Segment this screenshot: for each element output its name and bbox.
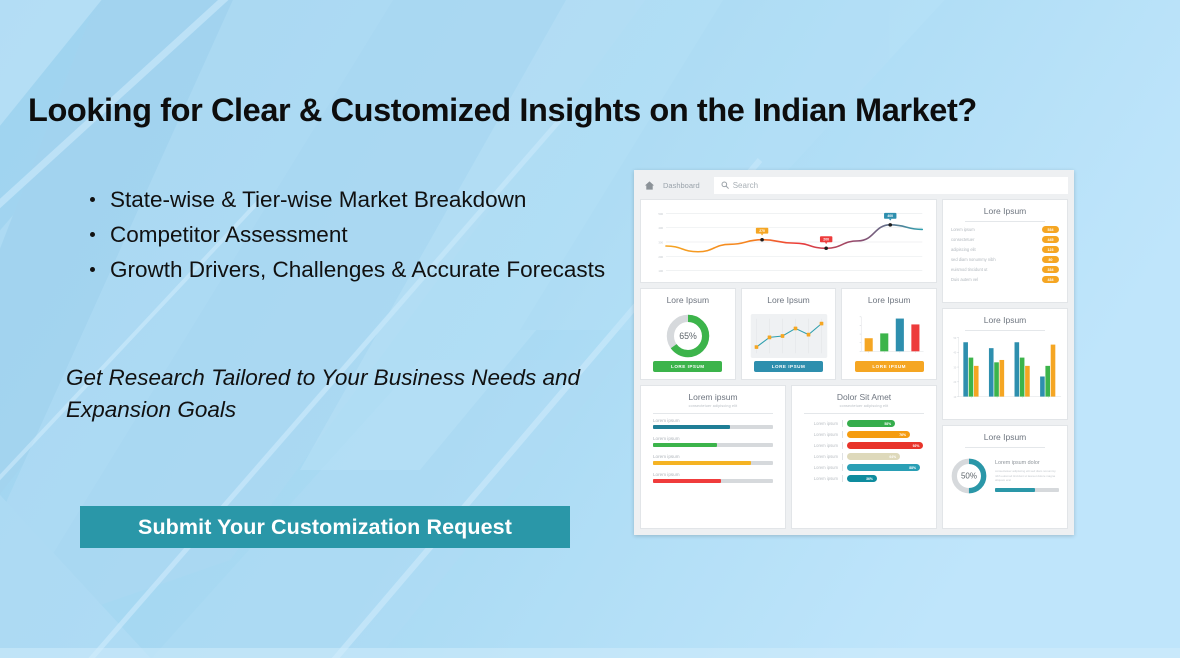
hbar-card: Dolor Sit Amet consectetuer adipiscing e… <box>791 385 937 529</box>
tagline: Get Research Tailored to Your Business N… <box>66 362 586 426</box>
hbar-value: 64% <box>889 455 900 459</box>
hbar-label: Lorem ipsum <box>798 476 838 481</box>
bar-chart <box>842 310 936 361</box>
progress-label: Lorem ipsum <box>653 472 773 477</box>
list-item-label: sed diam nonummy nibh <box>951 257 996 262</box>
hbar-row: Lorem ipsum88% <box>798 464 930 471</box>
page-title: Looking for Clear & Customized Insights … <box>28 92 1148 129</box>
donut-chart: 50% <box>949 456 989 496</box>
breadcrumb[interactable]: Dashboard <box>663 181 700 190</box>
hbar-fill: 64% <box>847 453 900 460</box>
hbar-value: 92% <box>913 444 924 448</box>
card-title: Dolor Sit Amet <box>792 386 936 402</box>
svg-text:400: 400 <box>658 226 663 230</box>
dashboard-header: Dashboard Search <box>640 176 1068 194</box>
card-title: Lore Ipsum <box>943 200 1067 216</box>
card-action-button[interactable]: LORE IPSUM <box>653 361 722 372</box>
hbar-value: 58% <box>884 422 895 426</box>
status-badge: 434 <box>1042 276 1059 283</box>
hbar-label: Lorem ipsum <box>798 432 838 437</box>
list-item-label: State-wise & Tier-wise Market Breakdown <box>110 187 526 212</box>
card-action-button[interactable]: LORE IPSUM <box>855 361 924 372</box>
trend-chart <box>742 310 836 361</box>
divider <box>842 442 843 449</box>
progress-fill <box>653 461 751 465</box>
divider <box>842 453 843 460</box>
progress-label: Lorem ipsum <box>653 418 773 423</box>
hbar-fill: 36% <box>847 475 877 482</box>
card-subtitle: consectetuer adipiscing elit <box>641 402 785 408</box>
hbar-value: 76% <box>899 433 910 437</box>
status-badge: 80 <box>1042 256 1059 263</box>
svg-text:50: 50 <box>954 337 957 340</box>
svg-text:400: 400 <box>887 214 893 218</box>
submit-customization-request-button[interactable]: Submit Your Customization Request <box>80 506 570 548</box>
divider <box>842 464 843 471</box>
progress-fill <box>653 479 721 483</box>
card-title: Lore Ipsum <box>667 289 710 305</box>
svg-text:500: 500 <box>658 212 663 216</box>
list-item-label: Lorem ipsum <box>951 227 975 232</box>
hbar-label: Lorem ipsum <box>798 465 838 470</box>
status-badge: 534 <box>1042 226 1059 233</box>
status-badge: 334 <box>1042 266 1059 273</box>
hbar-fill: 92% <box>847 442 923 449</box>
bullet-icon <box>90 197 95 202</box>
bullet-icon <box>90 232 95 237</box>
list-item[interactable]: sed diam nonummy nibh80 <box>943 256 1067 263</box>
hbar-value: 36% <box>866 477 877 481</box>
hbar-row: Lorem ipsum58% <box>798 420 930 427</box>
svg-text:270: 270 <box>759 229 765 233</box>
list-item: Growth Drivers, Challenges & Accurate Fo… <box>78 252 618 287</box>
hbar-label: Lorem ipsum <box>798 454 838 459</box>
hbar-row: Lorem ipsum36% <box>798 475 930 482</box>
list-item-label: Duis autem vel <box>951 277 978 282</box>
hbar-row: Lorem ipsum76% <box>798 431 930 438</box>
dashboard-mockup: Dashboard Search 50040030020010027020040… <box>634 170 1074 535</box>
promo-panel: Looking for Clear & Customized Insights … <box>0 0 630 658</box>
card-title: Lorem ipsum <box>641 386 785 402</box>
progress-label: Lorem ipsum <box>653 436 773 441</box>
card-title: Lore Ipsum <box>868 289 911 305</box>
hbar-value: 88% <box>909 466 920 470</box>
progress-fill <box>653 425 730 429</box>
status-badge: 445 <box>1042 236 1059 243</box>
progress-track <box>653 479 773 483</box>
card-title: Lore Ipsum <box>943 426 1067 442</box>
divider <box>842 431 843 438</box>
hbar-fill: 88% <box>847 464 920 471</box>
progress-track <box>653 461 773 465</box>
donut-body: consectetuer adipiscing elit sed diam no… <box>995 469 1059 482</box>
progress-track <box>653 425 773 429</box>
list-item: Competitor Assessment <box>78 217 618 252</box>
hbar-row: Lorem ipsum64% <box>798 453 930 460</box>
bottom-card-row: Lorem ipsum consectetuer adipiscing elit… <box>640 385 937 529</box>
svg-text:65%: 65% <box>679 330 697 340</box>
list-item[interactable]: euismod tincidunt ut334 <box>943 266 1067 273</box>
search-icon <box>721 181 729 189</box>
home-icon[interactable] <box>644 180 655 191</box>
divider <box>842 475 843 482</box>
progress-list: Lorem ipsumLorem ipsumLorem ipsumLorem i… <box>641 414 785 483</box>
bullet-icon <box>90 267 95 272</box>
svg-text:200: 200 <box>823 237 829 241</box>
stats-list-card: Lore Ipsum Lorem ipsum534consectetuer445… <box>942 199 1068 303</box>
svg-text:300: 300 <box>658 241 663 245</box>
list-item-label: consectetuer <box>951 237 974 242</box>
donut-progress-track <box>995 488 1059 492</box>
hbar-row: Lorem ipsum92% <box>798 442 930 449</box>
donut-progress-fill <box>995 488 1035 492</box>
hbar-label: Lorem ipsum <box>798 443 838 448</box>
grouped-bar-chart: 5040302010 <box>943 331 1067 409</box>
svg-text:20: 20 <box>954 381 957 384</box>
progress-fill <box>653 443 717 447</box>
list-item[interactable]: Lorem ipsum534 <box>943 226 1067 233</box>
divider <box>842 420 843 427</box>
list-item-label: Growth Drivers, Challenges & Accurate Fo… <box>110 257 605 282</box>
svg-text:100: 100 <box>658 269 663 273</box>
search-placeholder: Search <box>733 181 758 190</box>
trend-card[interactable]: Lore Ipsum LORE IPSUM <box>741 288 837 380</box>
list-item: State-wise & Tier-wise Market Breakdown <box>78 182 618 217</box>
list-item[interactable]: Duis autem vel434 <box>943 276 1067 283</box>
svg-text:30: 30 <box>954 366 957 369</box>
list-item-label: adipiscing elit <box>951 247 976 252</box>
gauge-card[interactable]: Lore Ipsum 65% LORE IPSUM <box>640 288 736 380</box>
svg-text:10: 10 <box>954 396 957 399</box>
list-item[interactable]: adipiscing elit123 <box>943 246 1067 253</box>
benefits-list: State-wise & Tier-wise Market Breakdown … <box>78 182 618 287</box>
stats-list: Lorem ipsum534consectetuer445adipiscing … <box>943 226 1067 283</box>
divider <box>965 221 1045 222</box>
progress-card: Lorem ipsum consectetuer adipiscing elit… <box>640 385 786 529</box>
hbar-fill: 76% <box>847 431 910 438</box>
progress-track <box>653 443 773 447</box>
svg-text:40: 40 <box>954 352 957 355</box>
line-chart-card: 500400300200100270200400 <box>640 199 937 283</box>
progress-label: Lorem ipsum <box>653 454 773 459</box>
status-badge: 123 <box>1042 246 1059 253</box>
line-chart: 500400300200100270200400 <box>645 206 928 278</box>
donut-card: Lore Ipsum 50% Lorem ipsum dolor consect… <box>942 425 1068 529</box>
list-item-label: euismod tincidunt ut <box>951 267 987 272</box>
list-item[interactable]: consectetuer445 <box>943 236 1067 243</box>
mini-card-row: Lore Ipsum 65% LORE IPSUM Lore Ipsum <box>640 288 937 380</box>
svg-text:50%: 50% <box>961 472 977 481</box>
svg-text:200: 200 <box>658 255 663 259</box>
card-subtitle: consectetuer adipiscing elit <box>792 402 936 408</box>
hbar-list: Lorem ipsum58%Lorem ipsum76%Lorem ipsum9… <box>792 414 936 482</box>
bars-card[interactable]: Lore Ipsum LORE IPSUM <box>841 288 937 380</box>
gauge-chart: 65% <box>641 310 735 361</box>
search-input[interactable]: Search <box>714 177 1068 194</box>
hbar-fill: 58% <box>847 420 895 427</box>
list-item-label: Competitor Assessment <box>110 222 348 247</box>
grouped-bar-card: Lore Ipsum 5040302010 <box>942 308 1068 420</box>
hbar-label: Lorem ipsum <box>798 421 838 426</box>
card-title: Lore Ipsum <box>767 289 810 305</box>
card-title: Lore Ipsum <box>943 309 1067 325</box>
donut-heading: Lorem ipsum dolor <box>995 460 1059 466</box>
card-action-button[interactable]: LORE IPSUM <box>754 361 823 372</box>
